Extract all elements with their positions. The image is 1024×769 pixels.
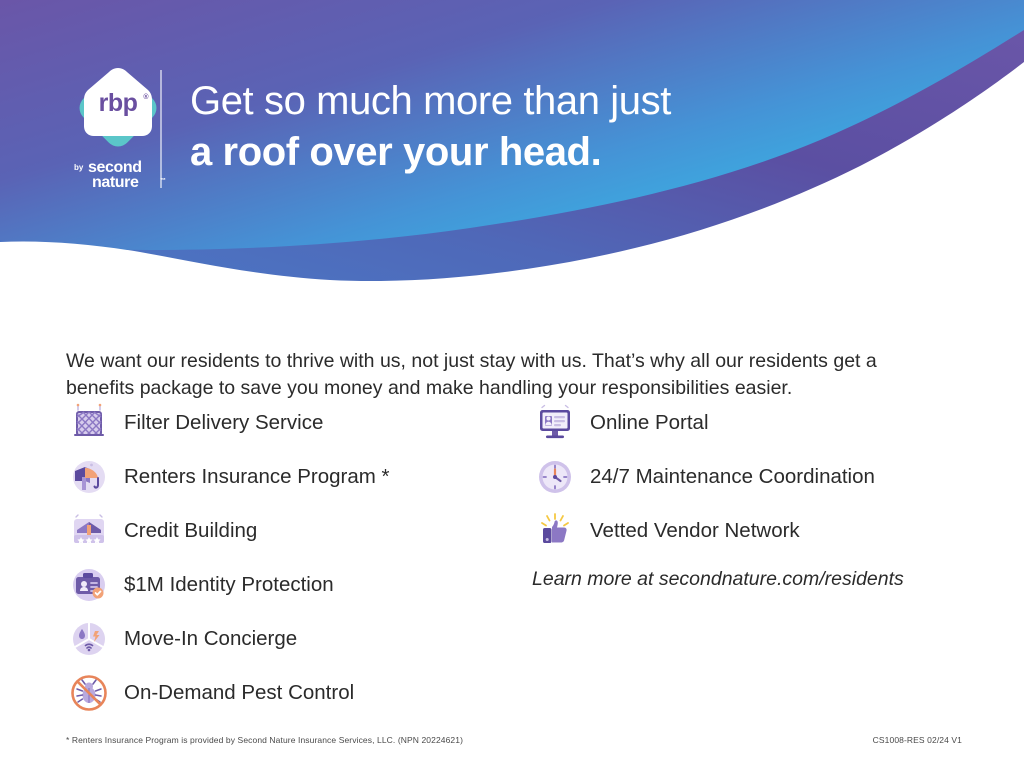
benefit-item-vetted-vendor-network: Vetted Vendor Network: [532, 504, 972, 558]
svg-text:nature: nature: [92, 174, 139, 191]
benefit-label: 24/7 Maintenance Coordination: [590, 464, 875, 490]
rbp-house-badge-icon: rbp ®: [72, 66, 164, 154]
no-pest-icon: [66, 670, 112, 716]
benefit-item-renters-insurance-program: Renters Insurance Program *: [66, 450, 496, 504]
benefit-label: $1M Identity Protection: [124, 572, 334, 598]
benefit-label: Renters Insurance Program *: [124, 464, 389, 490]
desktop-monitor-icon: [532, 400, 578, 446]
hero-headline: Get so much more than just a roof over y…: [190, 76, 671, 178]
benefit-label: Online Portal: [590, 410, 709, 436]
svg-text:rbp: rbp: [99, 89, 138, 117]
benefit-item-filter-delivery-service: Filter Delivery Service: [66, 396, 496, 450]
by-second-nature-wordmark: by second nature ™: [62, 156, 174, 192]
benefit-item-move-in-concierge: Move-In Concierge: [66, 612, 496, 666]
benefits-left-column: Filter Delivery Service: [66, 396, 496, 720]
headline-line-2: a roof over your head.: [190, 126, 671, 178]
benefit-label: Vetted Vendor Network: [590, 518, 800, 544]
utilities-wifi-icon: [66, 616, 112, 662]
footer-disclaimer: * Renters Insurance Program is provided …: [66, 735, 463, 745]
id-badge-shield-icon: [66, 562, 112, 608]
learn-more-text: Learn more at secondnature.com/residents: [532, 568, 904, 591]
benefits-right-column: Online Portal 24/7 Maintenance: [532, 396, 972, 558]
benefit-item-identity-protection: $1M Identity Protection: [66, 558, 496, 612]
benefit-label: Credit Building: [124, 518, 257, 544]
intro-paragraph: We want our residents to thrive with us,…: [66, 348, 946, 402]
rbp-logo: rbp ® by second nature ™: [62, 66, 174, 192]
benefit-item-pest-control: On-Demand Pest Control: [66, 666, 496, 720]
credit-stars-icon: [66, 508, 112, 554]
flyer-page: rbp ® by second nature ™ Get so much mor…: [0, 0, 1024, 769]
benefit-label: Filter Delivery Service: [124, 410, 323, 436]
hero-banner: rbp ® by second nature ™ Get so much mor…: [0, 0, 1024, 300]
headline-line-1: Get so much more than just: [190, 76, 671, 126]
benefit-label: Move-In Concierge: [124, 626, 297, 652]
svg-text:by: by: [74, 163, 84, 172]
footer-doc-code: CS1008-RES 02/24 V1: [873, 735, 962, 745]
clock-icon: [532, 454, 578, 500]
logo-divider: [160, 70, 162, 188]
thumbs-up-icon: [532, 508, 578, 554]
benefit-label: On-Demand Pest Control: [124, 680, 354, 706]
benefit-item-credit-building: Credit Building: [66, 504, 496, 558]
rbp-logo-mark: rbp ®: [72, 66, 164, 154]
umbrella-insurance-icon: [66, 454, 112, 500]
air-filter-icon: [66, 400, 112, 446]
svg-text:®: ®: [143, 93, 149, 101]
benefit-item-online-portal: Online Portal: [532, 396, 972, 450]
benefit-item-maintenance-coordination: 24/7 Maintenance Coordination: [532, 450, 972, 504]
